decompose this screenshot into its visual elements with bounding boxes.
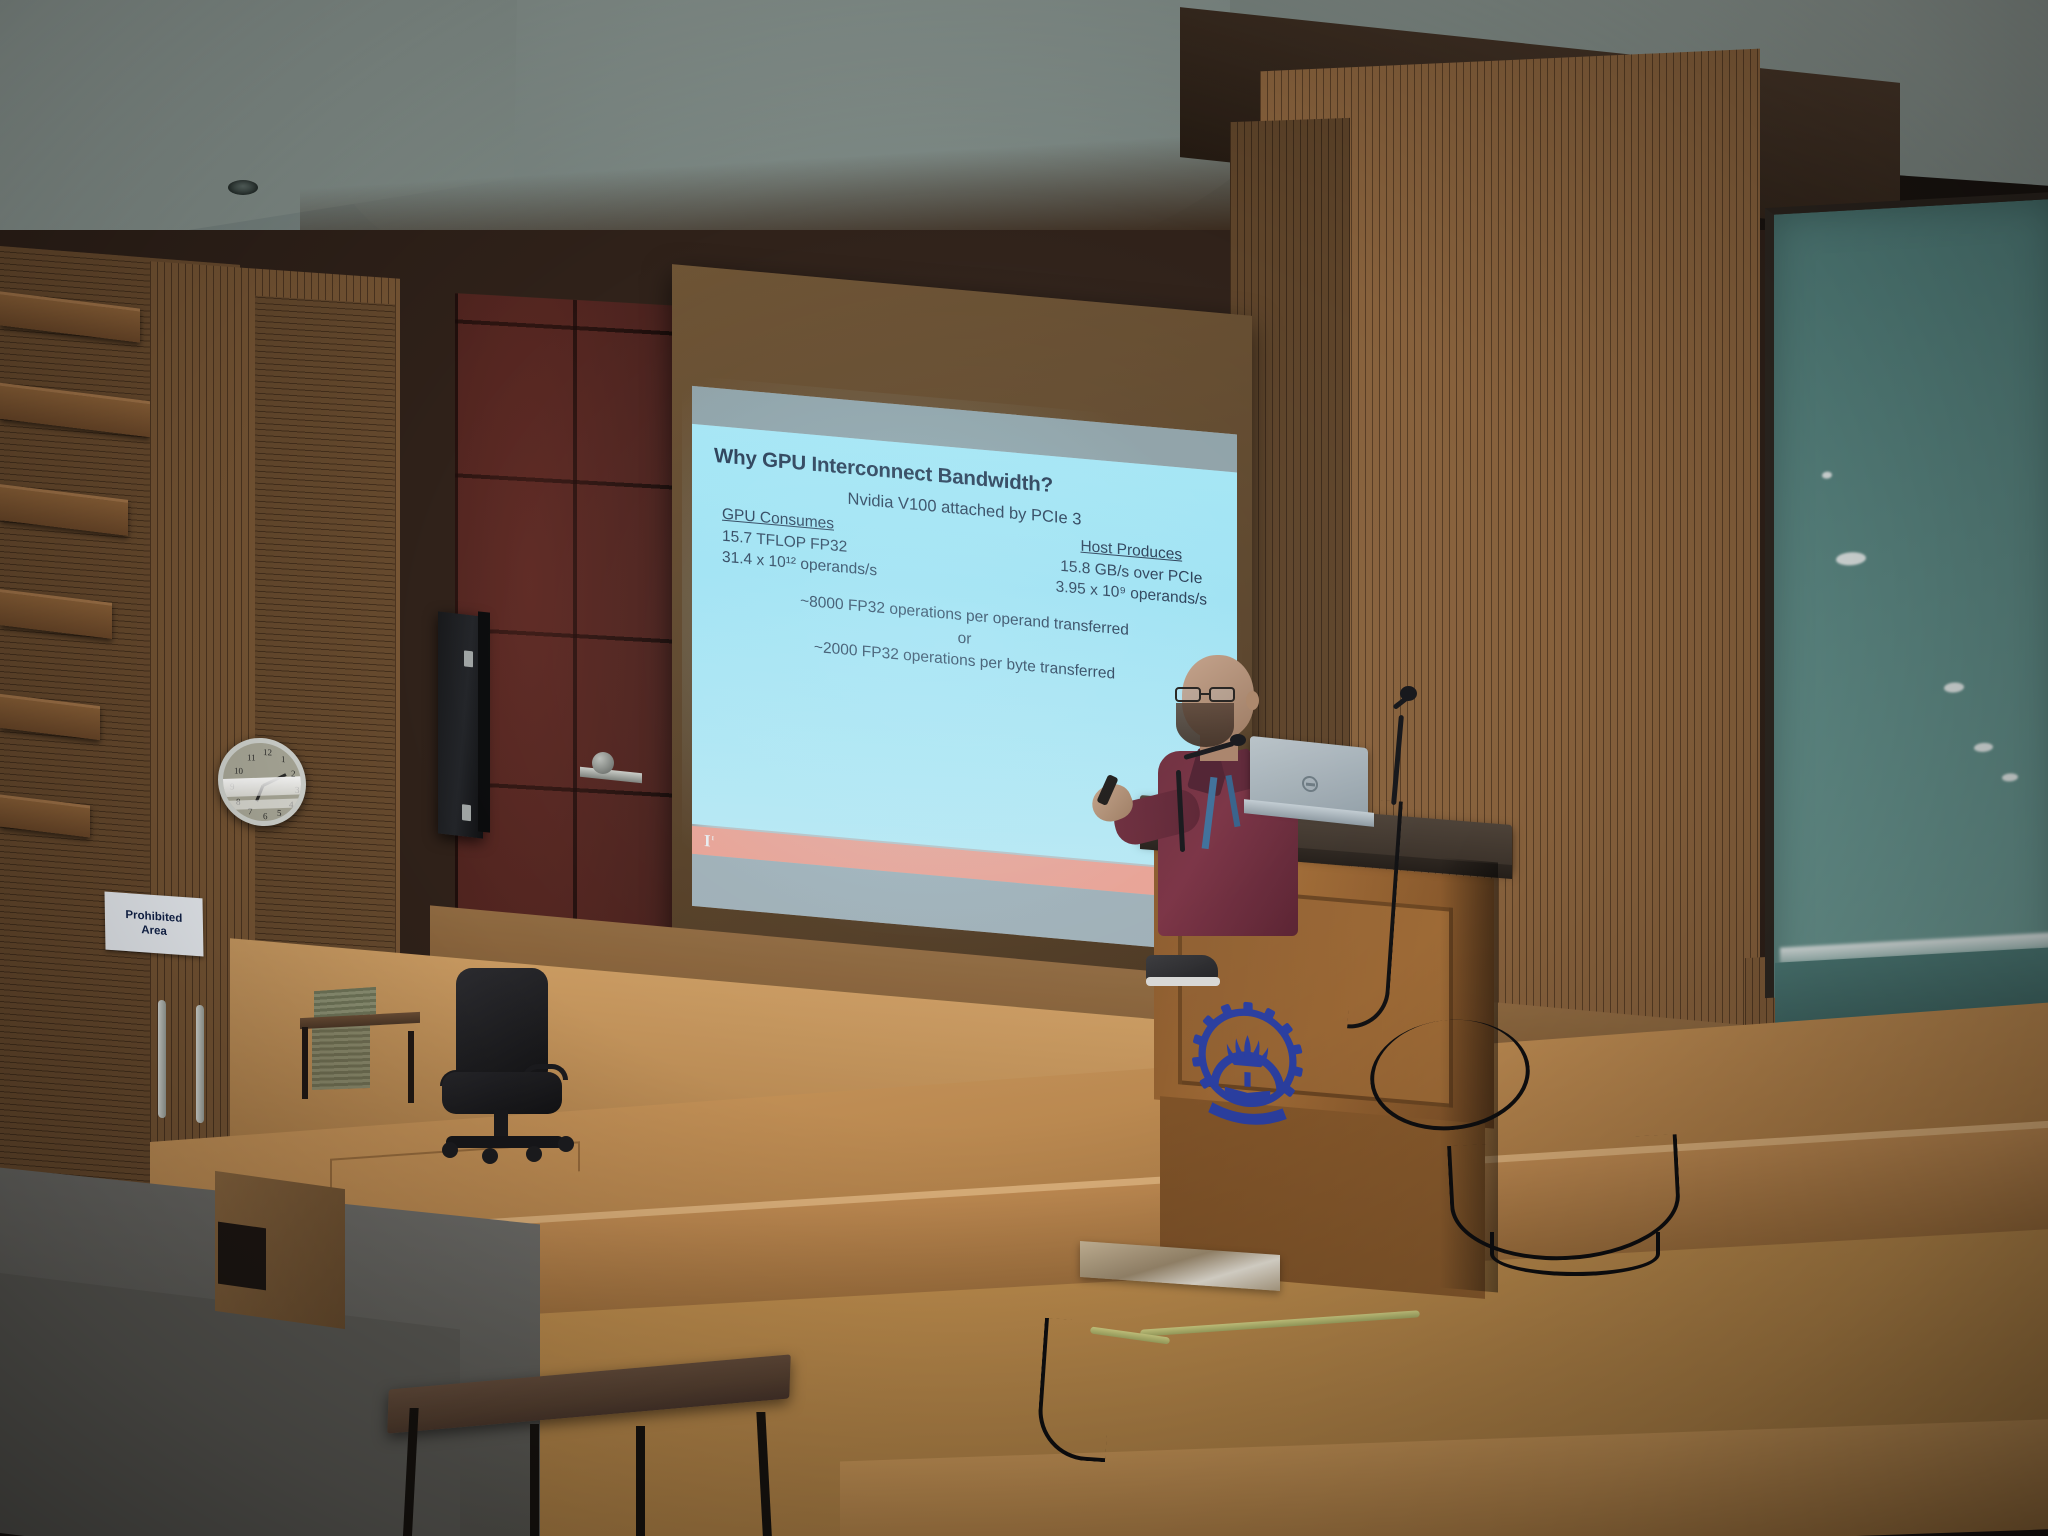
window-light-reflection bbox=[1944, 682, 1964, 693]
foreground-table-leg bbox=[756, 1412, 772, 1536]
side-table bbox=[300, 1015, 420, 1110]
slide-column-host: Host Produces 15.8 GB/s over PCIe 3.95 x… bbox=[1056, 534, 1207, 611]
presenter-person bbox=[1120, 655, 1360, 1055]
window-light-reflection bbox=[1822, 471, 1832, 479]
chair-caster bbox=[442, 1142, 458, 1158]
prohibited-area-sign: Prohibited Area bbox=[105, 892, 204, 957]
wall-speaker-side bbox=[478, 611, 490, 832]
foreground-table-leg bbox=[636, 1426, 645, 1536]
presenter-shoe-sole bbox=[1146, 977, 1220, 986]
glasses-lens bbox=[1175, 687, 1201, 702]
ceiling-downlight-icon bbox=[228, 180, 258, 195]
slide-column-gpu: GPU Consumes 15.7 TFLOP FP32 31.4 x 10¹²… bbox=[722, 505, 877, 582]
microphone-capsule-icon bbox=[1400, 686, 1417, 701]
foreground-table-leg bbox=[530, 1424, 539, 1536]
presenter-beard bbox=[1176, 703, 1234, 747]
chair-caster bbox=[558, 1136, 574, 1152]
clock-numeral: 11 bbox=[247, 752, 256, 762]
floor-storage-box-opening bbox=[218, 1222, 266, 1291]
wall-mount-knob bbox=[592, 752, 614, 774]
clock-numeral: 6 bbox=[263, 811, 268, 821]
slide-column-gpu-line-2: 31.4 x 10¹² operands/s bbox=[722, 548, 877, 579]
power-cable bbox=[1490, 1232, 1660, 1276]
presenter-glasses-icon bbox=[1175, 687, 1249, 702]
illinois-logo-icon: II bbox=[704, 831, 715, 852]
clock-numeral: 10 bbox=[234, 766, 243, 776]
glass-window-panel bbox=[1765, 192, 2048, 998]
door-handle[interactable] bbox=[196, 1005, 204, 1124]
clock-numeral: 5 bbox=[277, 808, 282, 818]
speaker-mount-tab bbox=[462, 804, 471, 821]
chair-backrest bbox=[456, 968, 548, 1080]
window-light-reflection bbox=[2002, 773, 2018, 782]
foreground-table bbox=[388, 1372, 790, 1536]
wall-speaker bbox=[438, 611, 483, 838]
window-light-reflection bbox=[1974, 742, 1993, 752]
chair-seat bbox=[442, 1072, 562, 1114]
clock-numeral: 12 bbox=[263, 747, 272, 757]
chair-base bbox=[446, 1136, 564, 1148]
office-chair bbox=[434, 968, 579, 1178]
chair-caster bbox=[482, 1148, 498, 1164]
door-handle[interactable] bbox=[158, 1000, 166, 1119]
clock-numeral: 1 bbox=[281, 754, 286, 764]
glasses-lens bbox=[1209, 687, 1235, 702]
window-light-reflection bbox=[1836, 551, 1866, 566]
microphone-capsule-icon bbox=[1230, 734, 1246, 746]
side-table-leg bbox=[302, 1027, 308, 1099]
side-table-leg bbox=[408, 1031, 414, 1103]
glasses-bridge bbox=[1201, 693, 1209, 695]
speaker-mount-tab bbox=[464, 650, 473, 667]
chair-caster bbox=[526, 1146, 542, 1162]
lecture-hall-photo: Why GPU Interconnect Bandwidth? Nvidia V… bbox=[0, 0, 2048, 1536]
clock-glass-glare bbox=[218, 775, 306, 797]
